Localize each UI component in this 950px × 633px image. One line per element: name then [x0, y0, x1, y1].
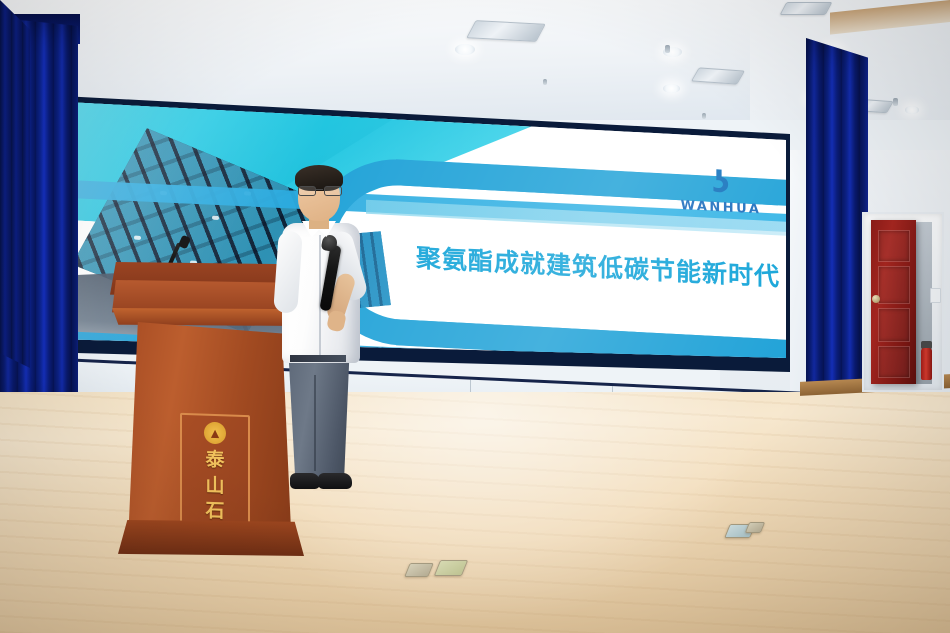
downlight-icon	[663, 84, 680, 93]
podium-body: ▲ 泰山石膏	[128, 322, 292, 552]
door-panel	[878, 346, 910, 378]
wanhua-logo: ʖ WANHUA	[678, 166, 764, 218]
door-panel	[878, 230, 910, 262]
speaker-shirt-placket	[319, 235, 321, 355]
light-switch-icon[interactable]	[930, 288, 941, 303]
eyeglass-bridge	[315, 189, 323, 190]
speaker-shoe-right	[318, 473, 352, 489]
ceiling-air-vent	[780, 2, 833, 15]
downlight-icon	[455, 44, 475, 55]
curtain-right	[806, 38, 868, 430]
door-handle-icon[interactable]	[872, 295, 880, 303]
podium-base	[118, 520, 304, 556]
curtain-right-secondary	[0, 0, 30, 368]
sprinkler-head-icon	[893, 98, 898, 106]
speaker-trouser-seam	[314, 375, 316, 471]
sprinkler-head-icon	[702, 113, 706, 119]
eyeglasses-icon	[298, 186, 340, 194]
conference-room-photo: 聚氨酯成就建筑低碳节能新时代 ʖ WANHUA 万华化学集团股份有限公司 www…	[0, 0, 950, 633]
sprinkler-head-icon	[665, 45, 670, 53]
speaker-person	[278, 165, 368, 505]
speaker-shoe-left	[290, 473, 320, 489]
door-panel	[878, 308, 910, 342]
downlight-icon	[905, 106, 919, 114]
taishan-mountain-logo-icon: ▲	[204, 422, 226, 445]
eyeglass-lens-left	[298, 186, 316, 196]
ceiling-air-vent	[466, 20, 546, 42]
speaker-belt	[290, 355, 346, 362]
fire-extinguisher-icon	[921, 348, 932, 380]
speaker-trousers	[286, 357, 352, 479]
door-panel	[878, 266, 910, 304]
facade-glint	[212, 216, 219, 220]
wanhua-logo-mark-icon: ʖ	[678, 166, 764, 201]
sprinkler-head-icon	[543, 79, 547, 85]
eyeglass-lens-right	[324, 186, 342, 196]
facade-glint	[134, 236, 141, 240]
